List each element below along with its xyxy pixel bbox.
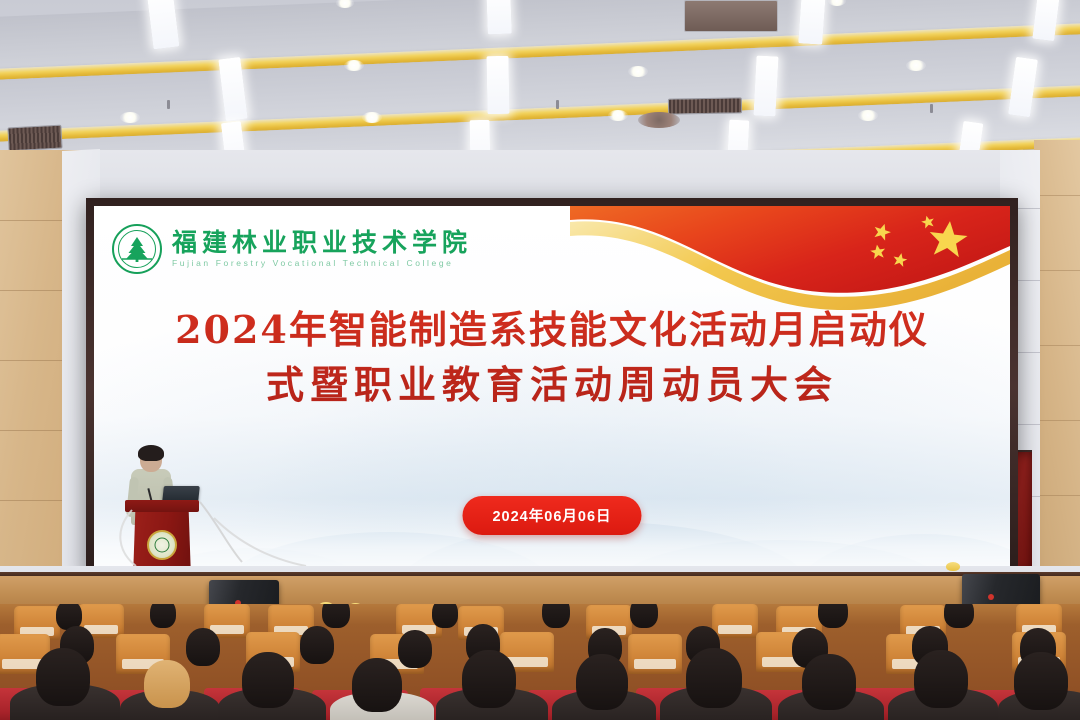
linear-led-panel <box>486 56 509 114</box>
downlight <box>608 110 628 121</box>
attendee-head <box>300 626 334 664</box>
date-badge: 2024年06月06日 <box>462 496 641 535</box>
attendee-head <box>352 658 402 712</box>
slide-title-line2: 式暨职业教育活动周动员大会 <box>94 357 1010 412</box>
attendee-head <box>432 604 458 628</box>
seat <box>628 634 682 674</box>
attendee-head <box>462 650 516 708</box>
presenter-hair <box>138 445 164 461</box>
wall-panel-right-wood <box>1034 140 1080 630</box>
attendee-head <box>630 604 658 628</box>
round-ceiling-vent <box>638 112 680 128</box>
attendee-head <box>914 650 968 708</box>
slide-title-line1: 2024年智能制造系技能文化活动月启动仪 <box>94 302 1010 357</box>
downlight <box>628 66 648 77</box>
slide-title: 2024年智能制造系技能文化活动月启动仪 式暨职业教育活动周动员大会 <box>94 302 1010 412</box>
attendee-head <box>36 648 90 706</box>
downlight <box>906 60 926 71</box>
attendee-head <box>944 604 974 628</box>
downlight <box>120 112 140 123</box>
attendee-head <box>802 654 856 710</box>
gold-decorations <box>946 562 960 571</box>
attendee-head <box>576 654 628 710</box>
fujian-forestry-college-emblem-icon <box>112 224 162 274</box>
college-logo: 福建林业职业技术学院 Fujian Forestry Vocational Te… <box>112 224 472 274</box>
air-vent <box>7 125 62 152</box>
auditorium-scene: 福建林业职业技术学院 Fujian Forestry Vocational Te… <box>0 0 1080 720</box>
college-name-en: Fujian Forestry Vocational Technical Col… <box>172 259 472 268</box>
sprinkler-head <box>167 100 170 109</box>
attendee-head <box>818 604 848 628</box>
attendee-head <box>144 660 190 708</box>
downlight <box>858 110 878 121</box>
sprinkler-head <box>556 100 559 109</box>
attendee-head <box>242 652 294 708</box>
college-name-cn: 福建林业职业技术学院 <box>172 230 472 255</box>
audience-seating <box>0 604 1080 720</box>
attendee-head <box>150 604 176 628</box>
attendee-head <box>686 648 742 708</box>
sprinkler-head <box>930 104 933 113</box>
linear-led-panel <box>753 55 778 116</box>
seat <box>712 604 758 638</box>
air-vent <box>684 0 778 32</box>
attendee-head <box>398 630 432 668</box>
downlight <box>362 112 382 123</box>
attendee-head <box>322 604 350 628</box>
attendee-head <box>1014 652 1068 710</box>
attendee-head <box>542 604 570 628</box>
linear-led-panel <box>486 0 512 34</box>
downlight <box>344 60 364 71</box>
linear-led-panel <box>798 0 826 45</box>
attendee-head <box>186 628 220 666</box>
air-vent <box>668 97 742 114</box>
